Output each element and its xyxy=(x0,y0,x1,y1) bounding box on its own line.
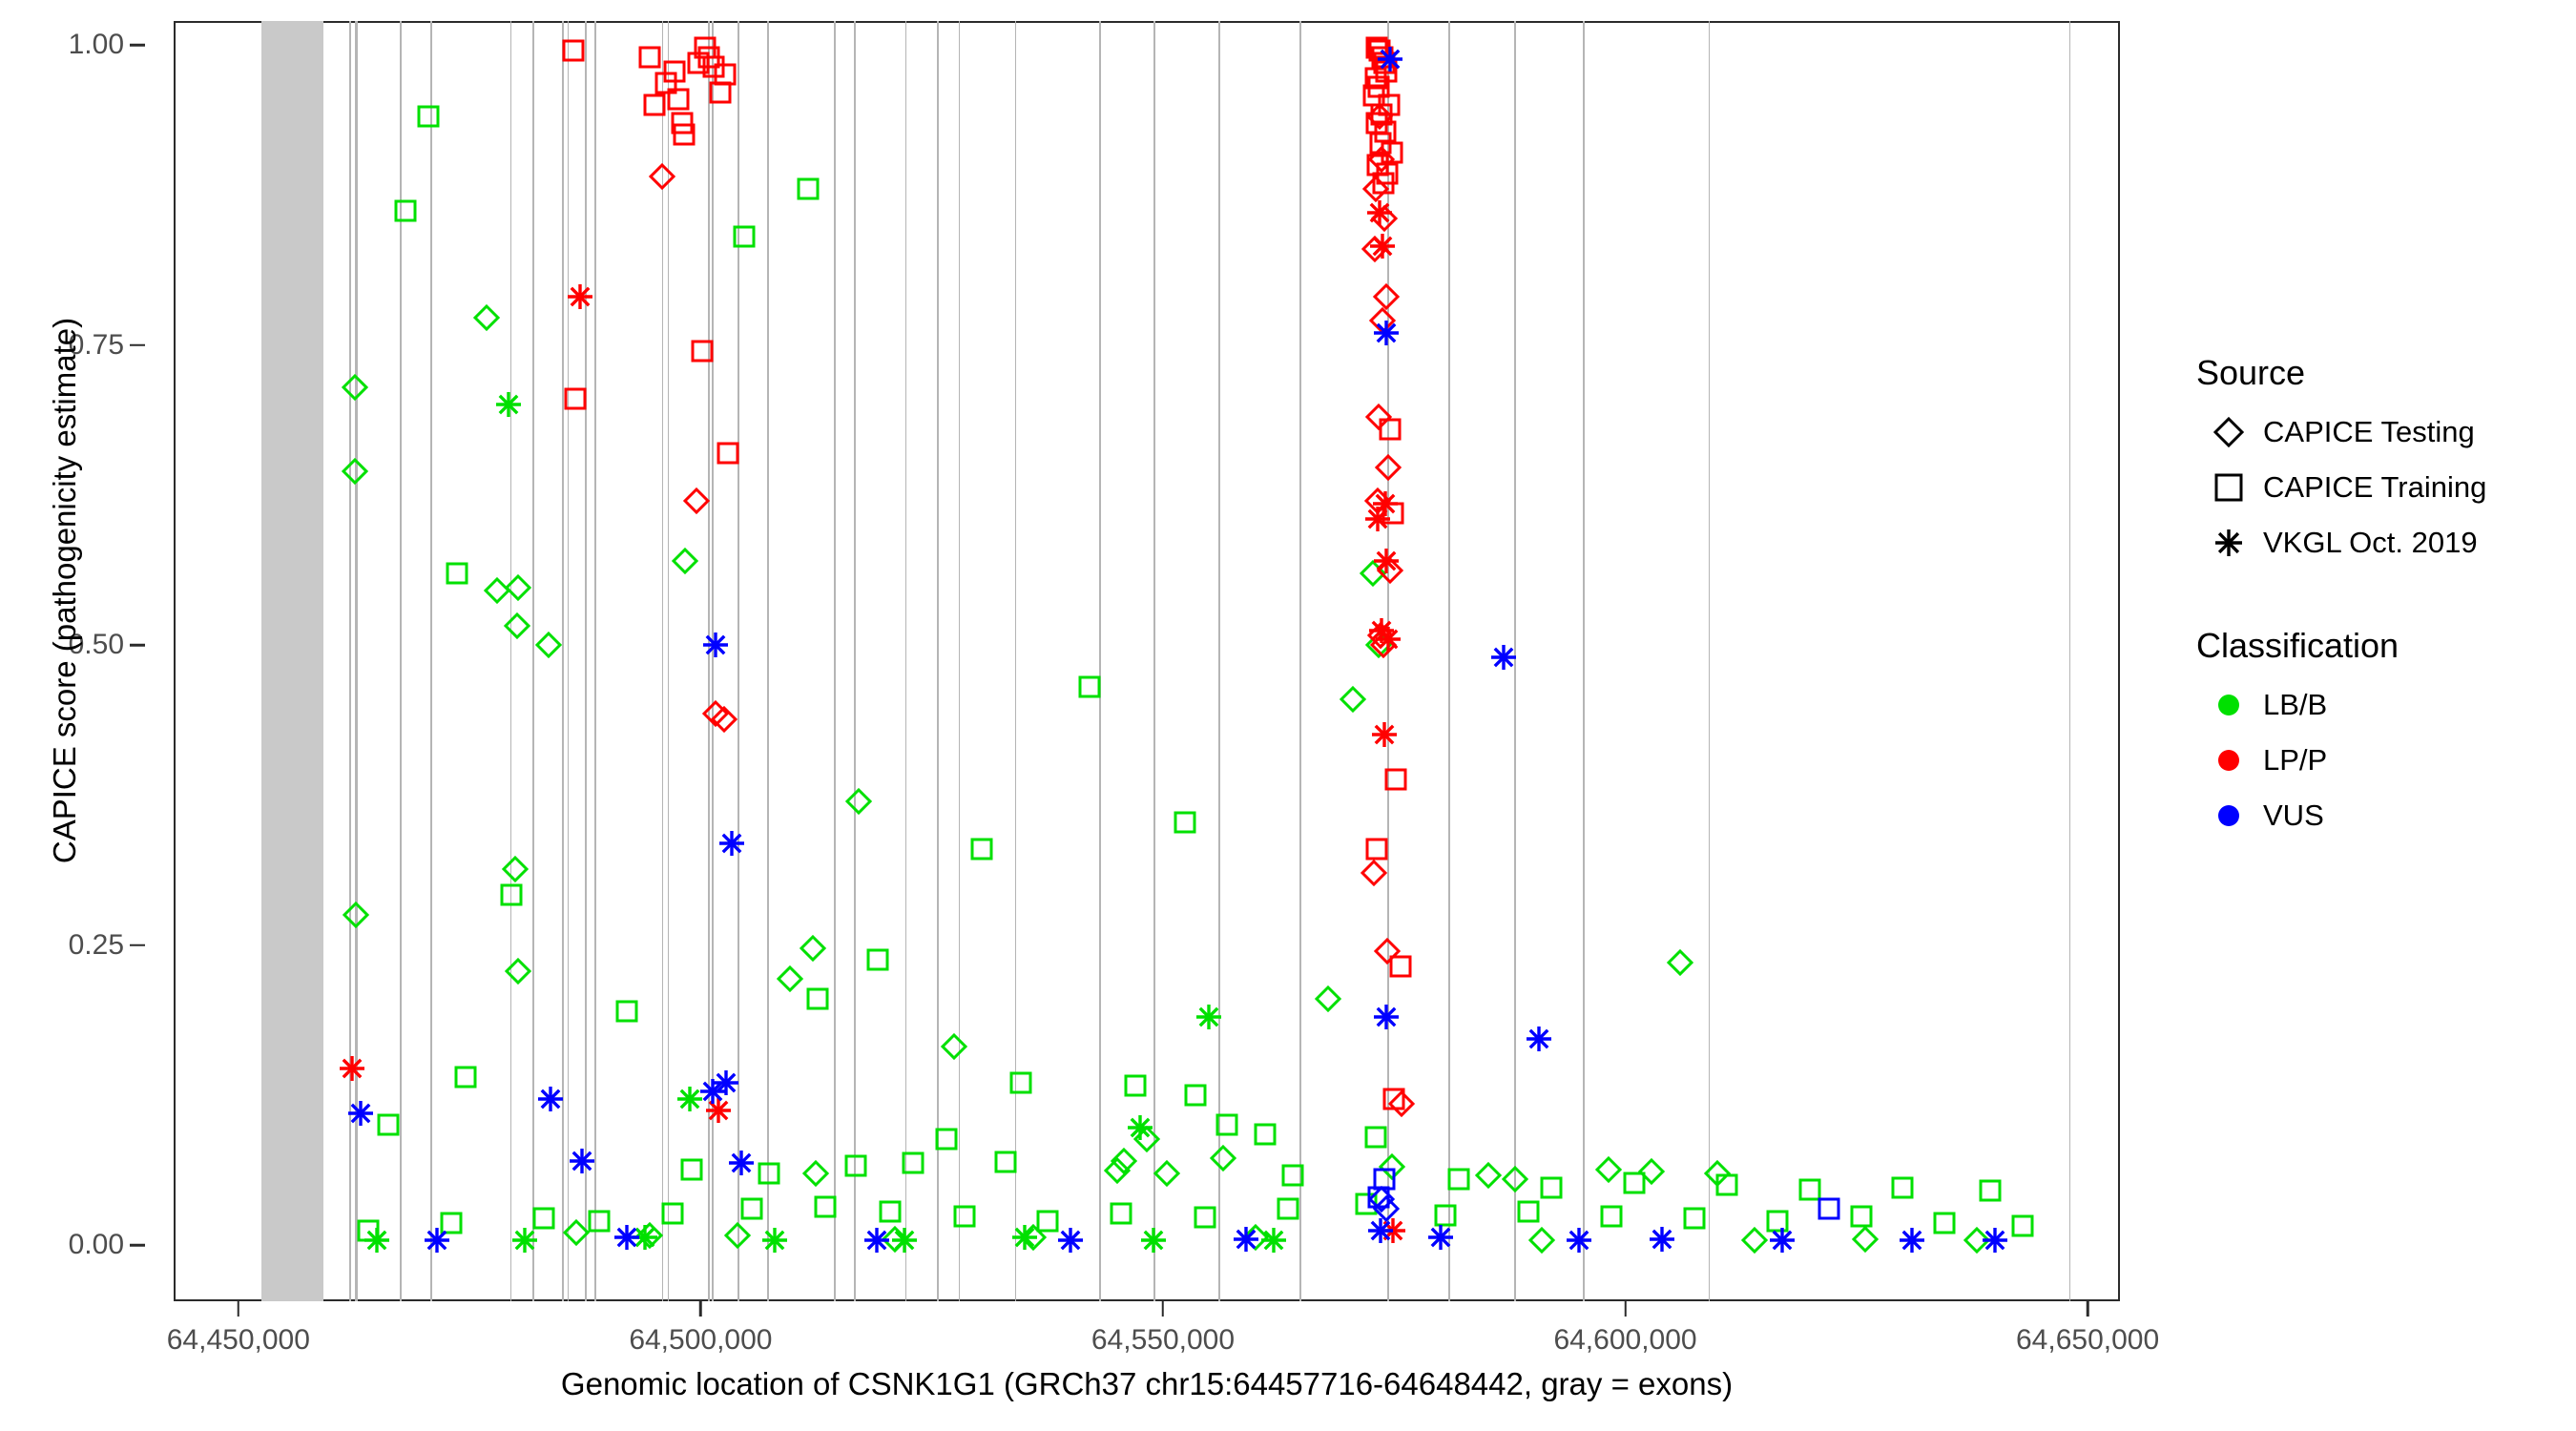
data-point xyxy=(1243,1225,1268,1250)
y-tick-mark xyxy=(130,44,145,47)
exon-marker-line xyxy=(767,21,769,1301)
circle-icon xyxy=(2194,693,2263,717)
data-point xyxy=(1382,1088,1405,1110)
exon-band xyxy=(261,21,323,1301)
data-point xyxy=(1373,1168,1396,1191)
data-point xyxy=(632,1224,658,1251)
data-point xyxy=(1371,633,1396,657)
exon-marker-line xyxy=(1299,21,1301,1301)
data-point xyxy=(1379,418,1402,441)
data-point xyxy=(357,1219,380,1242)
data-point xyxy=(377,1113,400,1136)
y-tick-mark xyxy=(130,343,145,346)
data-point xyxy=(1818,1197,1840,1220)
legend-item-label: LP/P xyxy=(2263,743,2327,778)
data-point xyxy=(883,1227,907,1252)
legend-item-label: CAPICE Testing xyxy=(2263,415,2475,449)
data-point xyxy=(1368,617,1395,644)
data-point xyxy=(424,1227,450,1254)
chart-figure: 0.000.250.500.751.00 CAPICE score (patho… xyxy=(0,0,2576,1431)
exon-marker-line xyxy=(430,21,432,1301)
data-point xyxy=(588,1210,611,1233)
data-point xyxy=(1649,1226,1675,1253)
data-point xyxy=(1127,1114,1153,1141)
x-axis: 64,450,00064,500,00064,550,00064,600,000… xyxy=(174,1301,2120,1425)
exon-marker-line xyxy=(708,21,710,1301)
data-point xyxy=(1277,1197,1299,1220)
plot-area xyxy=(174,21,2120,1301)
data-point xyxy=(803,1161,828,1186)
data-point xyxy=(1853,1227,1878,1252)
data-point xyxy=(714,63,737,86)
data-point xyxy=(347,1100,374,1127)
data-point xyxy=(1979,1179,2002,1202)
data-point xyxy=(1891,1176,1914,1199)
x-tick-label: 64,550,000 xyxy=(1091,1324,1235,1357)
data-point xyxy=(536,633,561,657)
data-point xyxy=(1184,1084,1207,1107)
data-point xyxy=(1057,1227,1084,1254)
data-point xyxy=(671,112,694,135)
data-point xyxy=(1381,502,1404,525)
exon-marker-line xyxy=(585,21,587,1301)
legend-group-classification: ClassificationLB/BLP/PVUS xyxy=(2194,626,2566,843)
y-axis-title: CAPICE score (pathogenicity estimate) xyxy=(47,133,83,1048)
x-tick-mark xyxy=(2087,1301,2089,1317)
exon-marker-line xyxy=(1099,21,1101,1301)
data-point xyxy=(761,1227,788,1254)
asterisk-icon xyxy=(2194,529,2263,557)
x-axis-title: Genomic location of CSNK1G1 (GRCh37 chr1… xyxy=(174,1366,2120,1402)
data-point xyxy=(1364,1126,1387,1149)
data-point xyxy=(2011,1214,2034,1237)
data-point xyxy=(1355,1192,1378,1215)
exon-marker-line xyxy=(1015,21,1017,1301)
data-point xyxy=(1370,308,1395,333)
data-point xyxy=(942,1034,966,1059)
data-point xyxy=(1899,1227,1925,1254)
x-tick-label: 64,600,000 xyxy=(1553,1324,1696,1357)
circle-icon xyxy=(2194,748,2263,773)
data-point xyxy=(1363,176,1388,201)
data-point xyxy=(1529,1228,1554,1253)
exon-marker-line xyxy=(1153,21,1155,1301)
data-point xyxy=(364,1227,390,1254)
data-point xyxy=(684,488,709,513)
exon-marker-line xyxy=(532,21,534,1301)
data-point xyxy=(800,936,825,961)
legend-item[interactable]: LB/B xyxy=(2194,677,2566,733)
data-point xyxy=(661,1202,684,1225)
data-point xyxy=(1369,233,1396,259)
data-point xyxy=(1373,52,1396,74)
x-tick-mark xyxy=(238,1301,240,1317)
y-tick-mark xyxy=(130,1244,145,1247)
data-point xyxy=(511,1227,538,1254)
exon-marker-line xyxy=(662,21,664,1301)
data-point xyxy=(1372,490,1399,517)
data-point xyxy=(702,632,729,658)
data-point xyxy=(485,578,509,603)
data-point xyxy=(339,1055,365,1082)
legend-item-label: VKGL Oct. 2019 xyxy=(2263,526,2478,560)
data-point xyxy=(673,549,697,573)
data-point xyxy=(1370,103,1393,126)
exon-marker-line xyxy=(905,21,907,1301)
circle-icon xyxy=(2194,803,2263,828)
data-point xyxy=(654,72,677,94)
data-point xyxy=(1362,84,1385,107)
legend-group-source: SourceCAPICE TestingCAPICE TrainingVKGL … xyxy=(2194,353,2566,570)
data-point xyxy=(1668,950,1693,975)
data-point xyxy=(1211,1146,1236,1171)
data-point xyxy=(1850,1205,1873,1228)
data-point xyxy=(718,830,745,857)
exon-marker-line xyxy=(357,21,359,1301)
data-point xyxy=(1365,112,1388,135)
data-point xyxy=(676,1086,703,1112)
x-tick-mark xyxy=(1162,1301,1165,1317)
legend-item[interactable]: LP/P xyxy=(2194,733,2566,788)
y-tick-mark xyxy=(130,944,145,946)
x-tick-label: 64,500,000 xyxy=(629,1324,772,1357)
data-point xyxy=(1476,1163,1501,1188)
exon-marker-line xyxy=(400,21,402,1301)
data-point xyxy=(446,562,468,585)
data-point xyxy=(1078,675,1101,698)
plot-panel-wrapper xyxy=(174,21,2120,1301)
exon-marker-line xyxy=(1218,21,1220,1301)
data-point xyxy=(1596,1157,1621,1182)
legend-item-label: VUS xyxy=(2263,798,2324,833)
legend-title-classification: Classification xyxy=(2196,626,2566,666)
data-point xyxy=(687,52,710,74)
legend-item[interactable]: CAPICE Training xyxy=(2194,460,2566,515)
data-point xyxy=(673,123,696,146)
legend-item[interactable]: VKGL Oct. 2019 xyxy=(2194,515,2566,570)
y-axis: 0.000.250.500.751.00 CAPICE score (patho… xyxy=(0,0,174,1326)
data-point xyxy=(1742,1228,1767,1253)
x-tick-mark xyxy=(699,1301,702,1317)
data-point xyxy=(1021,1225,1046,1250)
data-point xyxy=(1380,1154,1404,1179)
data-point xyxy=(1540,1176,1563,1199)
data-point xyxy=(495,391,522,418)
legend-item-label: CAPICE Training xyxy=(2263,470,2486,505)
data-point xyxy=(613,1224,640,1251)
data-point xyxy=(1933,1212,1956,1234)
data-point xyxy=(1124,1074,1147,1097)
data-point xyxy=(417,105,440,128)
data-point xyxy=(569,1148,595,1174)
diamond-icon xyxy=(2194,418,2263,446)
data-point xyxy=(505,613,530,638)
exon-marker-line xyxy=(834,21,836,1301)
data-point xyxy=(1254,1123,1277,1146)
data-point xyxy=(994,1151,1017,1173)
data-point xyxy=(1798,1178,1821,1201)
data-point xyxy=(615,1000,638,1023)
data-point xyxy=(778,966,802,991)
data-point xyxy=(1766,1210,1789,1233)
data-point xyxy=(637,1223,662,1248)
data-point xyxy=(1769,1227,1796,1254)
data-point xyxy=(506,959,530,984)
data-point xyxy=(1367,75,1390,98)
data-point xyxy=(562,39,585,62)
data-point xyxy=(970,838,993,861)
y-tick-label: 1.00 xyxy=(69,29,124,61)
y-tick-label: 0.00 xyxy=(69,1229,124,1261)
legend-title-source: Source xyxy=(2196,353,2566,393)
data-point xyxy=(537,1086,564,1112)
data-point xyxy=(1517,1200,1540,1223)
data-point xyxy=(440,1212,463,1234)
data-point xyxy=(702,55,725,78)
data-point xyxy=(1372,172,1395,195)
legend-item[interactable]: CAPICE Testing xyxy=(2194,404,2566,460)
data-point xyxy=(474,305,499,330)
x-tick-label: 64,450,000 xyxy=(167,1324,310,1357)
data-point xyxy=(1110,1202,1132,1225)
exon-marker-line xyxy=(562,21,564,1301)
exon-marker-line xyxy=(1709,21,1711,1301)
data-point xyxy=(844,1154,867,1177)
data-point xyxy=(691,340,714,363)
data-point xyxy=(1378,93,1401,116)
data-point xyxy=(712,707,737,732)
data-point xyxy=(1600,1205,1623,1228)
data-point xyxy=(1365,36,1388,59)
exon-marker-line xyxy=(854,21,856,1301)
data-point xyxy=(733,225,756,248)
exon-marker-line xyxy=(737,21,739,1301)
exon-marker-line xyxy=(712,21,714,1301)
exon-marker-line xyxy=(510,21,512,1301)
data-point xyxy=(1381,141,1403,164)
data-point xyxy=(1639,1159,1664,1184)
exon-marker-line xyxy=(594,21,596,1301)
data-point xyxy=(846,789,871,814)
data-point xyxy=(1369,1187,1394,1212)
exon-marker-line xyxy=(1387,21,1389,1301)
data-point xyxy=(638,46,661,69)
data-point xyxy=(713,1069,739,1096)
data-point xyxy=(1361,861,1386,885)
data-point xyxy=(1964,1228,1989,1253)
data-point xyxy=(1340,687,1365,712)
data-point xyxy=(1260,1227,1287,1254)
data-point xyxy=(1389,955,1412,978)
exon-marker-line xyxy=(1448,21,1450,1301)
data-point xyxy=(1372,206,1397,231)
data-point xyxy=(1361,561,1385,586)
data-point xyxy=(1434,1204,1457,1227)
data-point xyxy=(1366,154,1389,176)
data-point xyxy=(567,283,593,310)
data-point xyxy=(1373,1004,1400,1030)
data-point xyxy=(866,948,889,971)
exon-marker-line xyxy=(349,21,351,1301)
data-point xyxy=(667,88,690,111)
exon-marker-line xyxy=(2069,21,2071,1301)
data-point xyxy=(717,442,739,465)
data-point xyxy=(1374,1196,1399,1221)
data-point xyxy=(806,987,829,1010)
data-point xyxy=(797,177,820,200)
data-point xyxy=(1490,644,1517,671)
data-point xyxy=(879,1200,902,1223)
data-point xyxy=(394,199,417,222)
data-point xyxy=(1365,488,1390,513)
data-point xyxy=(1036,1210,1059,1233)
data-point xyxy=(1233,1226,1259,1253)
data-point xyxy=(503,857,528,881)
data-point xyxy=(1389,1091,1414,1116)
data-point xyxy=(1009,1071,1032,1094)
data-point xyxy=(1715,1173,1738,1196)
data-point xyxy=(1377,46,1403,73)
exon-marker-line xyxy=(937,21,939,1301)
legend-item[interactable]: VUS xyxy=(2194,788,2566,843)
exon-marker-line xyxy=(959,21,961,1301)
data-point xyxy=(703,701,728,726)
data-point xyxy=(1154,1161,1179,1186)
data-point xyxy=(863,1227,890,1254)
data-point xyxy=(728,1150,755,1176)
data-point xyxy=(1364,67,1387,90)
data-point xyxy=(740,1197,763,1220)
data-point xyxy=(1982,1227,2008,1254)
exon-marker-line xyxy=(1583,21,1585,1301)
data-point xyxy=(694,36,717,59)
data-point xyxy=(454,1066,477,1089)
data-point xyxy=(1111,1149,1136,1173)
x-tick-label: 64,650,000 xyxy=(2016,1324,2159,1357)
exon-marker-line xyxy=(668,21,670,1301)
exon-marker-line xyxy=(1514,21,1516,1301)
data-point xyxy=(1365,838,1388,861)
data-point xyxy=(1362,237,1387,261)
y-tick-mark xyxy=(130,644,145,647)
data-point xyxy=(1371,721,1398,748)
data-point xyxy=(1683,1207,1706,1230)
data-point xyxy=(1566,1227,1592,1254)
data-point xyxy=(758,1162,780,1185)
data-point xyxy=(1194,1206,1216,1229)
data-point xyxy=(1526,1026,1552,1052)
legend: SourceCAPICE TestingCAPICE TrainingVKGL … xyxy=(2194,353,2566,899)
data-point xyxy=(1367,1186,1390,1209)
data-point xyxy=(1369,147,1394,172)
data-point xyxy=(1378,558,1402,583)
legend-item-label: LB/B xyxy=(2263,688,2327,722)
data-point xyxy=(1367,1217,1394,1244)
data-point xyxy=(1174,811,1196,834)
data-point xyxy=(1374,284,1399,309)
data-point xyxy=(1380,1217,1406,1244)
data-point xyxy=(532,1207,555,1230)
data-point xyxy=(1623,1172,1646,1194)
square-icon xyxy=(2194,473,2263,502)
x-tick-mark xyxy=(1624,1301,1627,1317)
data-point xyxy=(680,1158,703,1181)
data-point xyxy=(953,1205,976,1228)
data-point xyxy=(1105,1158,1130,1183)
data-point xyxy=(1374,120,1397,143)
data-point xyxy=(1447,1168,1470,1191)
data-point xyxy=(1371,46,1394,69)
data-point xyxy=(1316,986,1340,1011)
exon-marker-line xyxy=(568,21,570,1301)
